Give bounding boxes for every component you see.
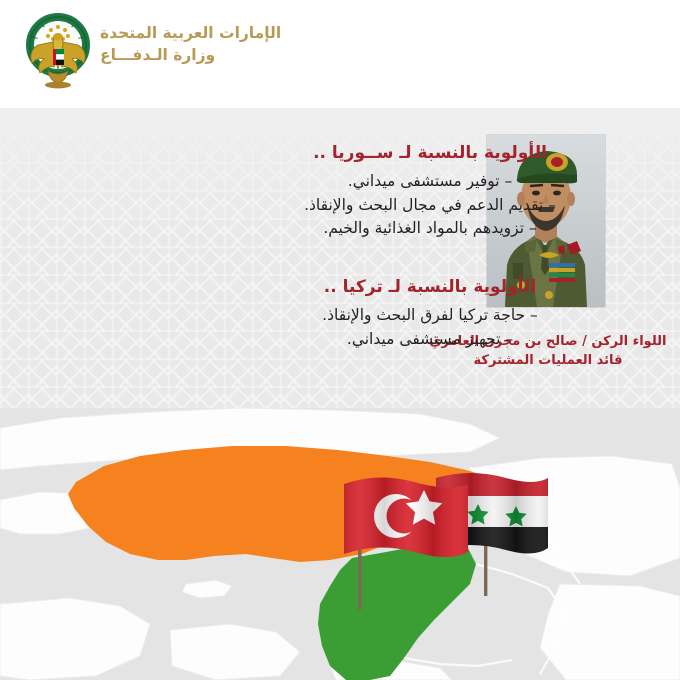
section-syria-priorities: الأولوية بالنسبة لـ ســوريا .. – توفير م…	[210, 142, 650, 241]
header-ministry-name: وزارة الـدفـــاع	[100, 44, 350, 66]
uae-armed-forces-emblem-icon	[22, 11, 94, 93]
syria-section-heading: الأولوية بالنسبة لـ ســوريا ..	[210, 142, 650, 164]
header-bar: الإمارات العربية المتحدة وزارة الـدفـــا…	[0, 0, 680, 108]
syria-bullet-list: – توفير مستشفى ميداني. – تقديم الدعم في …	[210, 170, 650, 241]
turkey-bullet-list: – حاجة تركيا لفرق البحث والإنقاذ. – تجهي…	[210, 304, 650, 351]
turkey-flag	[338, 470, 474, 610]
header-ministry-text: الإمارات العربية المتحدة وزارة الـدفـــا…	[100, 22, 350, 66]
list-item: – حاجة تركيا لفرق البحث والإنقاذ.	[210, 304, 650, 328]
flags-group	[318, 470, 548, 615]
infographic-poster: موقف عملية "الفارس الشهم 2" "الفارس الشه…	[0, 0, 680, 680]
turkey-section-heading: الأولوية بالنسبة لـ تركيا ..	[210, 276, 650, 298]
header-country-name: الإمارات العربية المتحدة	[100, 22, 350, 44]
section-turkey-priorities: الأولوية بالنسبة لـ تركيا .. – حاجة تركي…	[210, 276, 650, 351]
list-item: – تزويدهم بالمواد الغذائية والخيم.	[210, 217, 650, 241]
list-item: – تقديم الدعم في مجال البحث والإنقاذ.	[210, 194, 650, 218]
list-item: – تجهيز مستشفى ميداني.	[210, 328, 650, 352]
list-item: – توفير مستشفى ميداني.	[210, 170, 650, 194]
